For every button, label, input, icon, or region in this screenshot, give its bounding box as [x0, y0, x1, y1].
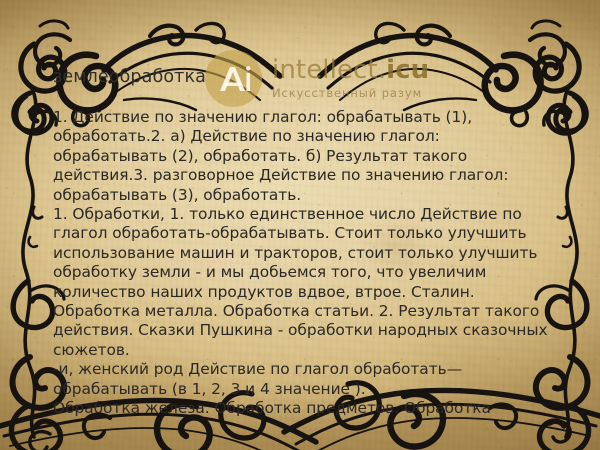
definition-paragraph-3: -и, женский род Действие по глагол обраб… — [53, 360, 551, 399]
definition-paragraph-1: 1. Действие по значению глагол: обрабаты… — [53, 108, 551, 205]
definition-paragraph-4: Обработка железа. Обработка предметов. О… — [53, 399, 551, 418]
page-title: землеобработка — [53, 67, 206, 87]
definition-paragraph-2: 1. Обработки, 1. только единственное чис… — [53, 205, 551, 360]
slide-content: землеобработка 1. Действие по значению г… — [0, 0, 600, 450]
slide-canvas: intellect.icu Искусственный разум землео… — [0, 0, 600, 450]
definition-body: 1. Действие по значению глагол: обрабаты… — [53, 108, 551, 419]
